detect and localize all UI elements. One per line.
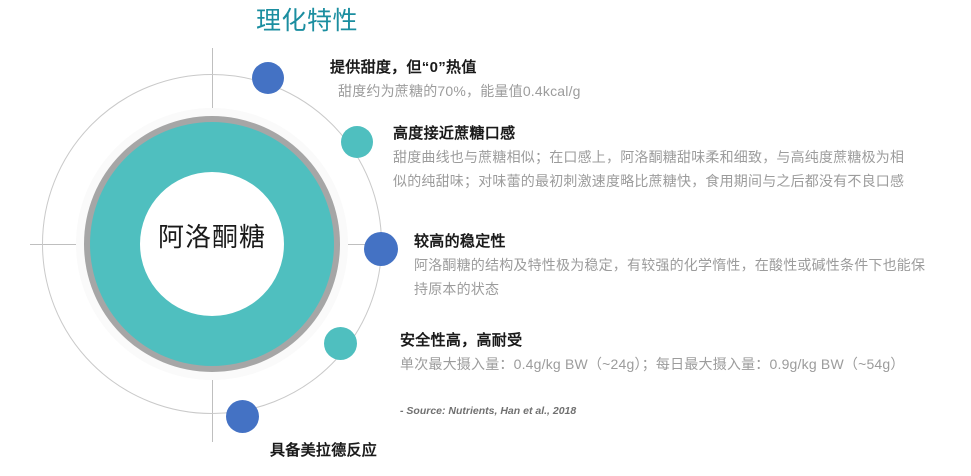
block-maillard-heading: 具备美拉德反应 [270,440,570,462]
block-sweetness-body: 甜度约为蔗糖的70%，能量值0.4kcal/g [330,79,960,103]
block-taste: 高度接近蔗糖口感 甜度曲线也与蔗糖相似；在口感上，阿洛酮糖甜味柔和细致，与高纯度… [393,123,933,193]
source-citation: - Source: Nutrients, Han et al., 2018 [400,404,576,418]
node-sweetness-dot[interactable] [252,62,284,94]
block-stability-heading: 较高的稳定性 [414,231,944,253]
block-sweetness: 提供甜度，但“0”热值 甜度约为蔗糖的70%，能量值0.4kcal/g [330,57,960,103]
donut-center-label: 阿洛酮糖 [120,222,304,252]
node-stability-dot[interactable] [364,232,398,266]
block-taste-heading: 高度接近蔗糖口感 [393,123,933,145]
node-taste-dot[interactable] [341,126,373,158]
node-safety-dot[interactable] [324,327,357,360]
block-maillard: 具备美拉德反应 [270,440,570,462]
node-maillard-dot[interactable] [226,400,259,433]
block-stability-body: 阿洛酮糖的结构及特性极为稳定，有较强的化学惰性，在酸性或碱性条件下也能保持原本的… [414,253,926,301]
block-safety-body: 单次最大摄入量：0.4g/kg BW（~24g）；每日最大摄入量：0.9g/kg… [400,352,952,376]
block-taste-body: 甜度曲线也与蔗糖相似；在口感上，阿洛酮糖甜味柔和细致，与高纯度蔗糖极为相似的纯甜… [393,145,918,193]
block-sweetness-heading: 提供甜度，但“0”热值 [330,57,960,79]
block-stability: 较高的稳定性 阿洛酮糖的结构及特性极为稳定，有较强的化学惰性，在酸性或碱性条件下… [414,231,944,301]
block-safety: 安全性高，高耐受 单次最大摄入量：0.4g/kg BW（~24g）；每日最大摄入… [400,330,960,376]
block-safety-heading: 安全性高，高耐受 [400,330,960,352]
slide-canvas: 理化特性 阿洛酮糖 提供甜度，但“0”热值 甜度约为蔗糖的70%，能量值0.4k… [0,0,971,476]
